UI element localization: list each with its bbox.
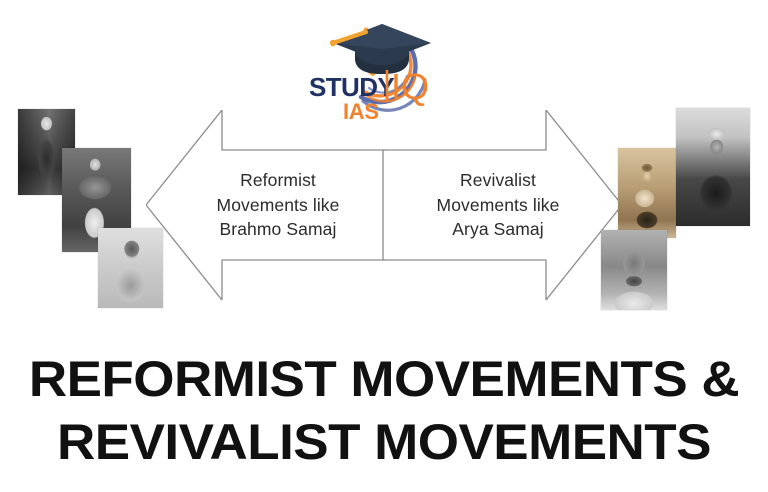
page-title: REFORMIST MOVEMENTS & REVIVALIST MOVEMEN… [0, 348, 768, 474]
studyiq-logo[interactable]: STUDY IQ IAS [303, 2, 463, 124]
page-title-line-2: REVIVALIST MOVEMENTS [0, 411, 768, 474]
logo-word-study: STUDY [309, 72, 394, 102]
left-arrow-shape[interactable] [146, 110, 386, 300]
portrait-ramakrishna-paramahamsa [601, 230, 667, 310]
logo-word-iq: IQ [391, 66, 429, 107]
right-arrow-shape[interactable] [382, 110, 622, 300]
portrait-dayanand-saraswati [618, 148, 676, 238]
portrait-sketch-raja-ram-mohan-roy [98, 228, 163, 308]
page-title-line-1: REFORMIST MOVEMENTS & [0, 348, 768, 411]
portrait-swami-vivekananda [676, 108, 750, 226]
right-arrow-outline [383, 110, 622, 300]
left-arrow-outline [146, 110, 385, 300]
